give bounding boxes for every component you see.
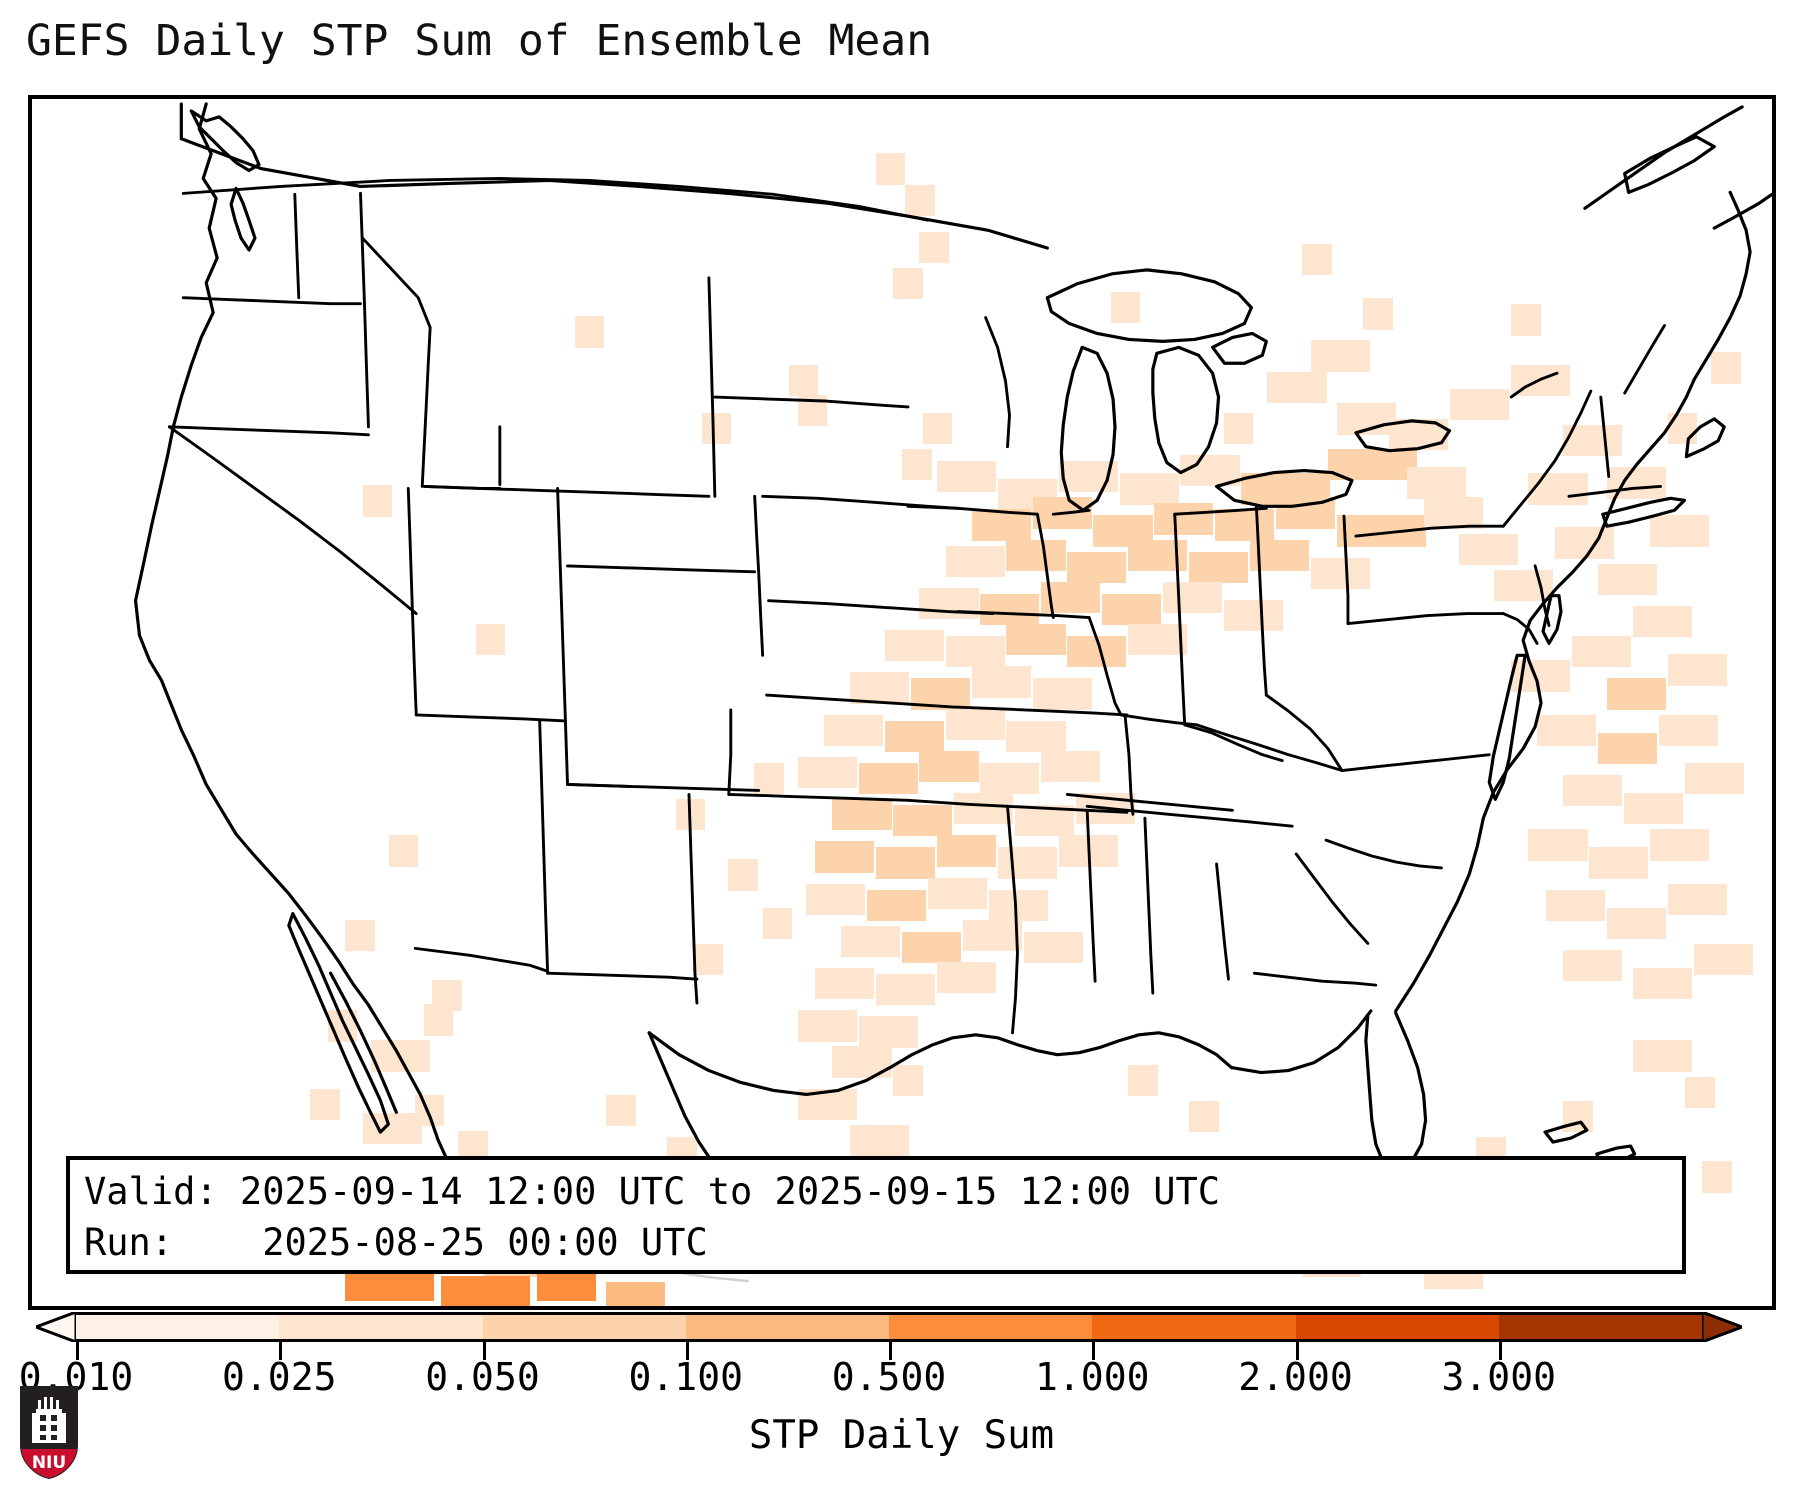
baja-california: [289, 914, 389, 1133]
state-border-ia-wi-il: [1037, 514, 1053, 617]
state-border-az-nm: [540, 721, 548, 973]
bahamas-1: [1545, 1122, 1587, 1142]
state-border-ia-mo: [958, 612, 1089, 618]
colorbar-segment-0: [76, 1315, 279, 1339]
state-border-pa-oh: [1344, 516, 1348, 623]
colorbar-gradient: [76, 1312, 1702, 1342]
state-border-ut-co: [558, 488, 568, 784]
florida-gulf-side: [1231, 1011, 1370, 1073]
florida-peninsula: [1366, 1013, 1426, 1172]
cape-cod: [1686, 419, 1724, 457]
georgian-bay: [1213, 333, 1267, 363]
state-border-or-east: [360, 193, 368, 426]
state-border-ut-az: [416, 715, 565, 721]
colorbar-label-1: 0.025: [222, 1355, 336, 1399]
state-border-ny-east: [1503, 391, 1591, 526]
state-border-mo-il: [1089, 618, 1121, 715]
state-border-tn-va-nc: [1197, 725, 1342, 771]
maine-coast: [1694, 192, 1750, 379]
run-time-text: Run: 2025-08-25 00:00 UTC: [84, 1217, 1668, 1268]
state-border-in-oh: [1256, 506, 1266, 695]
state-border-nv-ca: [169, 427, 416, 614]
lake-erie: [1217, 471, 1352, 507]
state-border-nj: [1535, 566, 1549, 626]
colorbar-segment-3: [686, 1315, 889, 1339]
state-border-wy-sd-ne: [755, 496, 763, 655]
logo-text: NIU: [32, 1453, 66, 1473]
state-border-nd-sd: [715, 397, 908, 407]
colorbar-segment-2: [483, 1315, 686, 1339]
chesapeake-bay: [1489, 655, 1525, 799]
valid-time-text: Valid: 2025-09-14 12:00 UTC to 2025-09-1…: [84, 1166, 1668, 1217]
colorbar-label-2: 0.050: [425, 1355, 539, 1399]
state-border-ma-ct: [1569, 486, 1661, 496]
canada-border-north: [181, 104, 1047, 248]
state-border-mn-wi: [986, 318, 1010, 447]
state-border-ga-fl: [1254, 973, 1375, 985]
state-border-nm-tx: [689, 794, 697, 1003]
state-border-va-nc: [1342, 755, 1489, 771]
geography-layer: [32, 99, 1772, 1306]
gulf-coast: [649, 1033, 1231, 1095]
colorbar-segment-4: [889, 1315, 1092, 1339]
state-border-id-nv-ut: [425, 486, 500, 488]
page-title: GEFS Daily STP Sum of Ensemble Mean: [26, 14, 932, 68]
state-border-mo-ar: [1003, 709, 1127, 715]
colorbar-label-5: 1.000: [1035, 1355, 1149, 1399]
state-border-il-in: [1175, 514, 1185, 725]
state-border-az-mexico: [415, 948, 547, 971]
lake-ontario: [1356, 421, 1450, 451]
state-border-nv-ut: [408, 488, 416, 714]
colorbar-segment-1: [279, 1315, 482, 1339]
colorbar-axis-label: STP Daily Sum: [0, 1412, 1803, 1460]
state-border-ok-tx: [729, 794, 1008, 806]
st-lawrence: [1585, 107, 1742, 208]
state-border-in-ky: [1185, 725, 1283, 761]
state-border-ga-al: [1217, 864, 1229, 979]
colorbar-segment-7: [1499, 1315, 1702, 1339]
newfoundland: [1625, 137, 1715, 193]
colorbar-under-arrow: [36, 1312, 76, 1342]
map-canvas: Valid: 2025-09-14 12:00 UTC to 2025-09-1…: [32, 99, 1772, 1306]
map-frame: Valid: 2025-09-14 12:00 UTC to 2025-09-1…: [28, 95, 1776, 1310]
state-border-tn-ga-al-ms: [1087, 806, 1292, 826]
colorbar-label-3: 0.100: [629, 1355, 743, 1399]
state-border-nh-me: [1625, 325, 1665, 393]
state-border-ok-tx-pan: [729, 710, 731, 794]
lake-superior: [1047, 270, 1251, 342]
state-border-vt-nh: [1601, 397, 1609, 476]
colorbar-segment-6: [1296, 1315, 1499, 1339]
state-border-ny-vt-nh: [1511, 373, 1557, 397]
state-border-wi-il: [1053, 510, 1089, 514]
state-border-or-ca: [169, 427, 368, 435]
state-border-ny-pa: [1356, 526, 1503, 536]
state-border-sc-ga: [1296, 854, 1368, 943]
colorbar-label-6: 2.000: [1238, 1355, 1352, 1399]
lake-huron: [1153, 347, 1219, 472]
niu-logo: NIU: [18, 1383, 80, 1481]
state-border-tx-east: [1008, 806, 1018, 1032]
state-border-co-nm: [568, 784, 630, 786]
colorbar-tick-labels: 0.0100.0250.0500.1000.5001.0002.0003.000: [0, 1355, 1803, 1403]
state-border-wa-id: [295, 194, 299, 297]
colorbar-over-arrow: [1702, 1312, 1742, 1342]
state-border-nm-south: [548, 973, 697, 979]
long-island: [1603, 498, 1685, 526]
state-border-id-mt: [362, 238, 430, 486]
state-border-al-ms: [1145, 818, 1153, 993]
forecast-info-box: Valid: 2025-09-14 12:00 UTC to 2025-09-1…: [66, 1156, 1686, 1274]
colorbar-segment-5: [1092, 1315, 1295, 1339]
puget-sound: [231, 188, 255, 250]
state-border-mi-oh-in: [1175, 508, 1267, 514]
state-border-pa-south: [1348, 614, 1503, 624]
lake-michigan: [1061, 347, 1115, 510]
state-border-ms-la: [1087, 810, 1095, 981]
state-border-mt-nd: [709, 278, 715, 497]
colorbar-label-4: 0.500: [832, 1355, 946, 1399]
state-border-ks-ok: [767, 695, 1003, 709]
state-border-nc-sc: [1326, 840, 1441, 868]
state-border-co-wy: [568, 566, 755, 572]
state-border-mn-ia: [908, 506, 1037, 514]
colorbar-label-7: 3.000: [1442, 1355, 1556, 1399]
